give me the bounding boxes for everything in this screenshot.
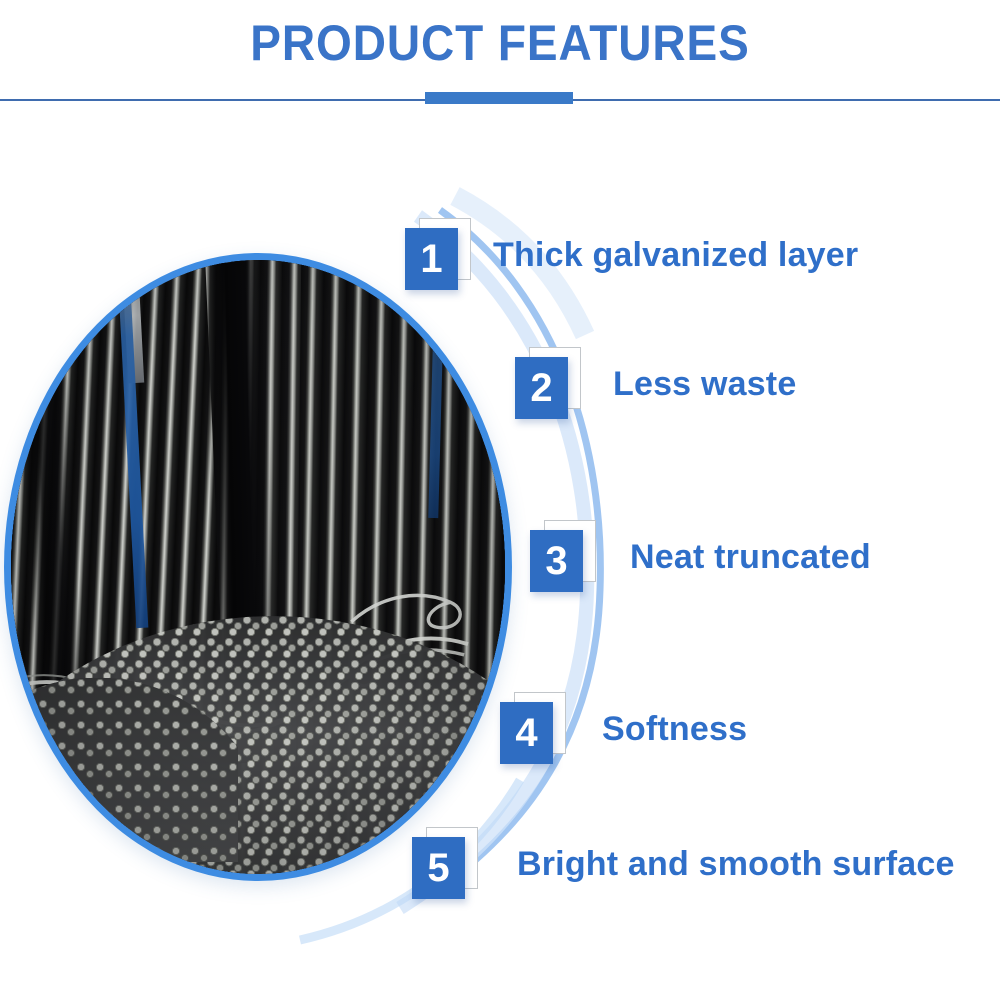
feature-label-1: Thick galvanized layer <box>493 236 858 275</box>
photo-vignette <box>11 260 505 874</box>
feature-label-5: Bright and smooth surface <box>517 845 955 884</box>
marker-number-box: 3 <box>530 530 583 592</box>
feature-marker-2: 2 <box>515 347 589 419</box>
product-features-page: PRODUCT FEATURES <box>0 0 1000 1000</box>
marker-number-box: 4 <box>500 702 553 764</box>
marker-number-box: 2 <box>515 357 568 419</box>
feature-label-4: Softness <box>602 710 747 749</box>
photo-content <box>11 260 505 874</box>
feature-marker-4: 4 <box>500 692 574 764</box>
feature-marker-1: 1 <box>405 218 479 290</box>
header-accent-bar <box>425 92 573 104</box>
marker-number-box: 5 <box>412 837 465 899</box>
marker-number-box: 1 <box>405 228 458 290</box>
feature-label-2: Less waste <box>613 365 796 404</box>
feature-marker-5: 5 <box>412 827 486 899</box>
feature-label-3: Neat truncated <box>630 538 871 577</box>
feature-marker-3: 3 <box>530 520 604 592</box>
page-title: PRODUCT FEATURES <box>40 14 960 72</box>
product-photo <box>4 253 512 881</box>
